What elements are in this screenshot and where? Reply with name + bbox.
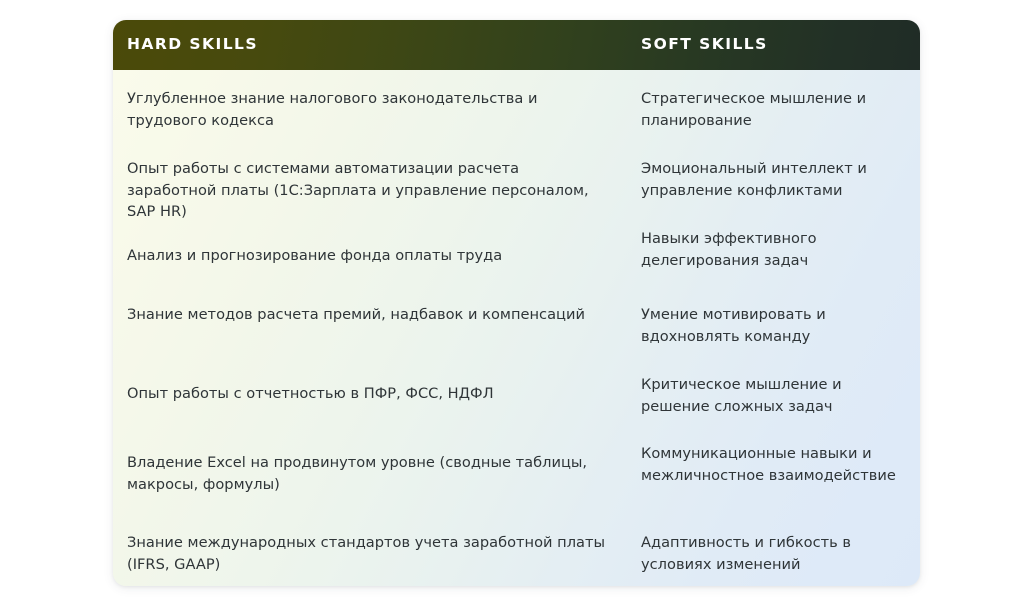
table-row: Углубленное знание налогового законодате… bbox=[113, 88, 920, 131]
table-row: Опыт работы с системами автоматизации ра… bbox=[113, 158, 920, 223]
skills-rows: Углубленное знание налогового законодате… bbox=[113, 70, 920, 586]
table-row: Знание международных стандартов учета за… bbox=[113, 532, 920, 575]
hard-skill-item: Углубленное знание налогового законодате… bbox=[113, 88, 627, 131]
page-root: HARD SKILLS SOFT SKILLS Углубленное знан… bbox=[0, 0, 1024, 613]
hard-skill-item: Знание методов расчета премий, надбавок … bbox=[113, 304, 627, 347]
table-row: Опыт работы с отчетностью в ПФР, ФСС, НД… bbox=[113, 383, 920, 417]
table-row: Владение Excel на продвинутом уровне (св… bbox=[113, 452, 920, 495]
card-header: HARD SKILLS SOFT SKILLS bbox=[113, 20, 920, 70]
header-title-hard-skills: HARD SKILLS bbox=[127, 37, 258, 53]
table-row: Анализ и прогнозирование фонда оплаты тр… bbox=[113, 245, 920, 271]
soft-skill-item: Умение мотивировать и вдохновлять команд… bbox=[627, 304, 920, 347]
hard-skill-item: Анализ и прогнозирование фонда оплаты тр… bbox=[113, 245, 627, 271]
soft-skill-item: Коммуникационные навыки и межличностное … bbox=[627, 443, 920, 495]
table-row: Знание методов расчета премий, надбавок … bbox=[113, 304, 920, 347]
soft-skill-item: Навыки эффективного делегирования задач bbox=[627, 228, 920, 271]
soft-skill-item: Критическое мышление и решение сложных з… bbox=[627, 374, 920, 417]
header-column-hard-skills: HARD SKILLS bbox=[113, 20, 627, 70]
soft-skill-item: Стратегическое мышление и планирование bbox=[627, 88, 920, 131]
header-column-soft-skills: SOFT SKILLS bbox=[627, 20, 920, 70]
hard-skill-item: Знание международных стандартов учета за… bbox=[113, 532, 627, 575]
skills-comparison-card: HARD SKILLS SOFT SKILLS Углубленное знан… bbox=[113, 20, 920, 586]
soft-skill-item: Адаптивность и гибкость в условиях измен… bbox=[627, 532, 920, 575]
soft-skill-item: Эмоциональный интеллект и управление кон… bbox=[627, 158, 920, 223]
header-title-soft-skills: SOFT SKILLS bbox=[641, 37, 768, 53]
card-body: Углубленное знание налогового законодате… bbox=[113, 70, 920, 586]
hard-skill-item: Опыт работы с отчетностью в ПФР, ФСС, НД… bbox=[113, 383, 627, 417]
hard-skill-item: Владение Excel на продвинутом уровне (св… bbox=[113, 452, 627, 495]
hard-skill-item: Опыт работы с системами автоматизации ра… bbox=[113, 158, 627, 223]
